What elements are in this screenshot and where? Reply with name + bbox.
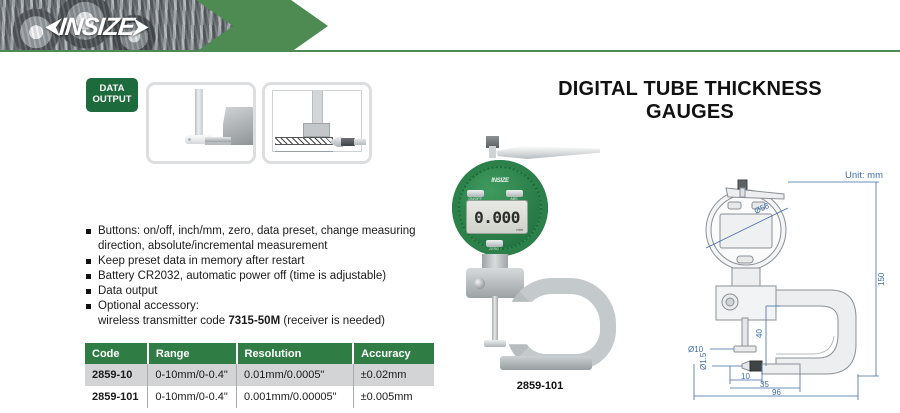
- list-item: Keep preset data in memory after restart: [86, 254, 426, 269]
- dimension-tip-offset: 10: [741, 372, 750, 381]
- optional-accessory-label: Optional accessory:: [98, 300, 199, 312]
- spindle-shape: [195, 89, 203, 137]
- header-divider: [0, 50, 900, 52]
- logo-right-arrow-icon: ⮞: [133, 16, 149, 39]
- dimension-frame-depth: 35: [760, 380, 769, 389]
- dial-brand-logo: INSIZE: [474, 178, 526, 184]
- clamp-screw-shape: [474, 278, 485, 289]
- accessory-code: 7315-50M: [228, 315, 280, 327]
- badge-line-2: OUTPUT: [92, 95, 131, 106]
- diagram-anvil-body: [341, 138, 355, 146]
- zero-button-label: ZERO: [484, 247, 504, 251]
- cell-range: 0-10mm/0-0.4": [148, 364, 237, 386]
- cell-code: 2859-101: [85, 386, 148, 408]
- product-photo: INSIZE ON/OFF ABS 0.000 mm ZERO: [440, 128, 640, 378]
- product-caption: 2859-101: [440, 380, 640, 392]
- dimension-tip-diameter: Ø1.5: [699, 352, 708, 370]
- accessory-prefix: wireless transmitter code: [98, 315, 228, 327]
- lcd-unit: mm: [516, 227, 523, 232]
- specification-table: Code Range Resolution Accuracy 2859-10 0…: [85, 343, 434, 408]
- onoff-button[interactable]: [467, 190, 484, 197]
- collar-hole-shape: [188, 138, 191, 141]
- dimension-anvil-diameter: Ø10: [688, 345, 704, 354]
- cell-accuracy: ±0.02mm: [353, 364, 434, 386]
- accessory-suffix: (receiver is needed): [280, 315, 385, 327]
- unit-label: Unit: mm: [845, 170, 883, 181]
- logo-text: INSIZE: [58, 13, 136, 42]
- technical-drawing: Unit: mm: [680, 168, 895, 403]
- application-photo-panel: [146, 82, 256, 164]
- drawing-svg: Ø58 150 40 Ø10 Ø1.5 10 35 96: [680, 168, 895, 403]
- dimension-overall-width: 96: [772, 388, 781, 397]
- list-item: Data output: [86, 284, 426, 299]
- dimension-overall-height: 150: [877, 272, 886, 286]
- data-output-badge: DATA OUTPUT: [86, 78, 138, 112]
- dimension-throat-depth: 40: [755, 329, 764, 338]
- list-item-optional-accessory: Optional accessory: wireless transmitter…: [86, 299, 426, 329]
- diagram-tube-wall-bottom: [275, 161, 333, 164]
- table-row: 2859-10 0-10mm/0-0.4" 0.01mm/0.0005" ±0.…: [85, 364, 434, 386]
- measuring-rod-shadow: [205, 142, 231, 145]
- cell-range: 0-10mm/0-0.4": [148, 386, 237, 408]
- feature-list: Buttons: on/off, inch/mm, zero, data pre…: [86, 224, 426, 329]
- diagram-tube-wall-top: [275, 137, 333, 145]
- measuring-anvil-shape: [484, 340, 506, 347]
- abs-button[interactable]: [506, 190, 523, 197]
- column-header-resolution: Resolution: [237, 343, 354, 364]
- page-header: ⮜INSIZE⮞: [0, 0, 900, 52]
- spindle-cap-stem-shape: [489, 146, 496, 158]
- frame-base-shape: [500, 356, 592, 370]
- page-title: DIGITAL TUBE THICKNESS GAUGES: [520, 78, 860, 124]
- cell-accuracy: ±0.005mm: [353, 386, 434, 408]
- lcd-value: 0.000: [474, 208, 520, 227]
- column-header-code: Code: [85, 343, 148, 364]
- table-row: 2859-101 0-10mm/0-0.4" 0.001mm/0.00005" …: [85, 386, 434, 408]
- table-header-row: Code Range Resolution Accuracy: [85, 343, 434, 364]
- cell-resolution: 0.001mm/0.00005": [237, 386, 354, 408]
- lcd-display: 0.000 mm: [466, 200, 528, 234]
- cell-resolution: 0.01mm/0.0005": [237, 364, 354, 386]
- application-diagram-panel: [262, 82, 372, 164]
- zero-button[interactable]: [486, 240, 503, 247]
- column-header-accuracy: Accuracy: [353, 343, 434, 364]
- diagram-anvil-tail: [354, 139, 366, 145]
- diagram-spindle: [312, 91, 323, 125]
- cell-code: 2859-10: [85, 364, 148, 386]
- lifting-lever-shape: [496, 146, 600, 159]
- insize-logo: ⮜INSIZE⮞: [45, 14, 149, 40]
- diagram-centerline: [275, 151, 333, 152]
- column-header-range: Range: [148, 343, 237, 364]
- list-item: Battery CR2032, automatic power off (tim…: [86, 269, 426, 284]
- measuring-spindle-shape: [492, 296, 498, 342]
- list-item: Buttons: on/off, inch/mm, zero, data pre…: [86, 224, 426, 254]
- diagram-head: [303, 123, 330, 137]
